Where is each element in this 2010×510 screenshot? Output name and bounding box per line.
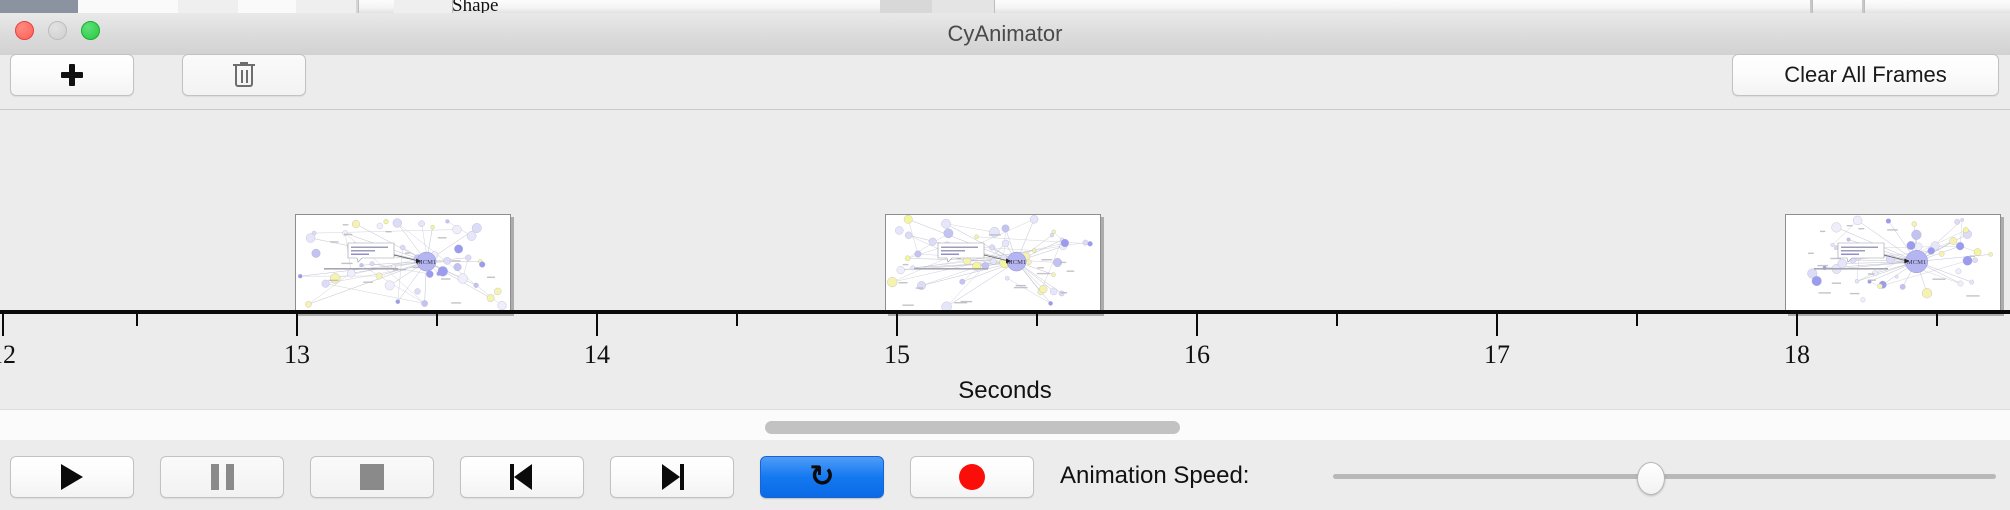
ruler-tick (896, 314, 898, 336)
bg-tab-5 (296, 0, 357, 13)
play-icon (61, 464, 83, 490)
animation-speed-label: Animation Speed: (1060, 456, 1249, 496)
svg-text:MCM1: MCM1 (1907, 259, 1926, 266)
ruler-tick-label: 15 (884, 340, 910, 370)
ruler-tick-label: 12 (0, 340, 16, 370)
previous-frame-button[interactable] (460, 456, 584, 498)
bg-tab-7 (394, 0, 453, 13)
ruler-tick-label: 17 (1484, 340, 1510, 370)
bg-tab-11 (1862, 0, 1865, 13)
axis-title-seconds: Seconds (0, 377, 2010, 405)
bg-tab-3 (178, 0, 239, 13)
horizontal-scrollbar-thumb[interactable] (765, 421, 1180, 434)
ruler-tick (136, 314, 138, 326)
ruler-tick (1796, 314, 1798, 336)
ruler-tick (1036, 314, 1038, 326)
skip-next-icon (659, 464, 685, 490)
page-title: CyAnimator (0, 13, 2010, 55)
frame-thumbnail-1[interactable]: MCM1 (295, 214, 511, 313)
ruler-tick (436, 314, 438, 326)
animation-speed-slider-thumb[interactable] (1637, 462, 1665, 495)
skip-previous-icon (509, 464, 535, 490)
bg-tab-8 (880, 0, 933, 13)
frame-thumbnail-2[interactable]: MCM1 (885, 214, 1101, 313)
play-button[interactable] (10, 456, 134, 498)
ruler-tick (1936, 314, 1938, 326)
ruler-tick (1196, 314, 1198, 336)
timeline-ruler (0, 310, 2010, 314)
background-window-label: Shape (452, 0, 498, 14)
ruler-tick (2, 314, 4, 336)
bg-tab-10 (1810, 0, 1813, 13)
delete-frame-button[interactable] (182, 54, 306, 96)
clear-all-frames-button[interactable]: Clear All Frames (1732, 54, 1999, 96)
background-window-strip: Shape (0, 0, 2010, 14)
loop-button[interactable]: ↻ (760, 456, 884, 498)
ruler-tick (296, 314, 298, 336)
bg-tab-6 (356, 0, 359, 13)
svg-text:MCM1: MCM1 (417, 259, 436, 266)
ruler-tick (736, 314, 738, 326)
bg-tab-2 (78, 0, 179, 13)
record-icon (959, 464, 985, 490)
record-button[interactable] (910, 456, 1034, 498)
cyanimator-window: Shape CyAnimator Clear All Frames MCM1MC… (0, 0, 2010, 510)
frame-thumbnail-3[interactable]: MCM1 (1785, 214, 2001, 313)
ruler-tick-label: 18 (1784, 340, 1810, 370)
add-frame-button[interactable] (10, 54, 134, 96)
bg-tab-1 (0, 0, 79, 13)
pause-icon (211, 464, 234, 490)
ruler-tick-label: 16 (1184, 340, 1210, 370)
next-frame-button[interactable] (610, 456, 734, 498)
ruler-tick-label: 13 (284, 340, 310, 370)
svg-text:MCM1: MCM1 (1007, 259, 1026, 266)
plus-icon (60, 63, 84, 87)
bg-tab-4 (238, 0, 297, 13)
trash-icon (233, 62, 255, 88)
ruler-tick (1336, 314, 1338, 326)
stop-button[interactable] (310, 456, 434, 498)
ruler-tick-label: 14 (584, 340, 610, 370)
bg-tab-9 (932, 0, 995, 13)
stop-icon (360, 464, 384, 490)
ruler-tick (1636, 314, 1638, 326)
ruler-tick (596, 314, 598, 336)
pause-button[interactable] (160, 456, 284, 498)
ruler-tick (1496, 314, 1498, 336)
loop-icon: ↻ (809, 462, 834, 492)
